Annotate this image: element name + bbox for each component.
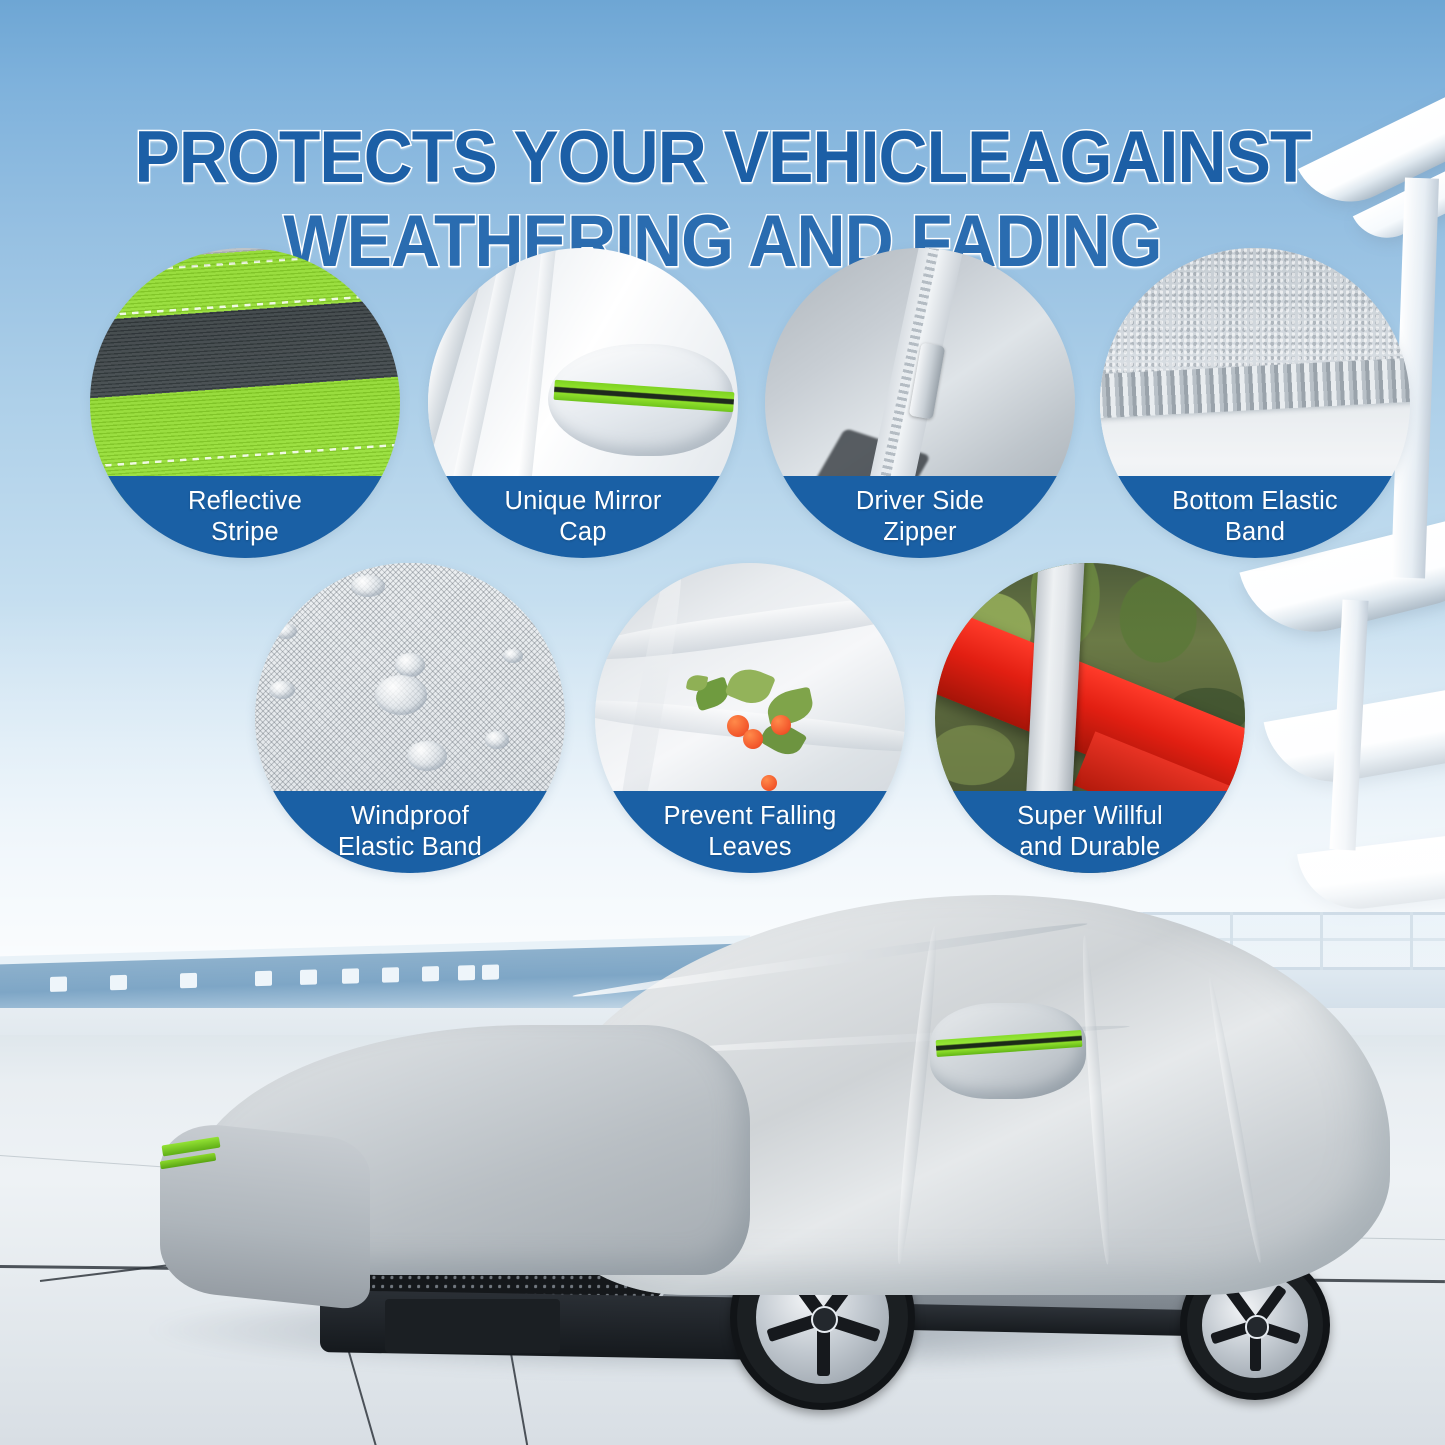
feature-label: Super Willful and Durable xyxy=(1005,801,1175,863)
feature-label: Reflective Stripe xyxy=(176,486,314,548)
feature-label: Prevent Falling Leaves xyxy=(651,801,848,863)
feature-circle-reflective-stripe[interactable]: Reflective Stripe xyxy=(90,248,400,558)
feature-label-banner: Super Willful and Durable xyxy=(935,791,1245,873)
feature-circle-unique-mirror-cap[interactable]: Unique Mirror Cap xyxy=(428,248,738,558)
product-infographic: PROTECTS YOUR VEHICLEAGAINST WEATHERING … xyxy=(0,0,1445,1445)
feature-label: Unique Mirror Cap xyxy=(492,486,673,548)
feature-label: Windproof Elastic Band xyxy=(326,801,494,863)
feature-label-banner: Driver Side Zipper xyxy=(765,476,1075,558)
feature-circle-windproof-elastic-band[interactable]: Windproof Elastic Band xyxy=(255,563,565,873)
feature-circle-super-willful-and-durable[interactable]: Super Willful and Durable xyxy=(935,563,1245,873)
feature-label-banner: Bottom Elastic Band xyxy=(1100,476,1410,558)
feature-circle-driver-side-zipper[interactable]: Driver Side Zipper xyxy=(765,248,1075,558)
feature-circle-bottom-elastic-band[interactable]: Bottom Elastic Band xyxy=(1100,248,1410,558)
feature-label-banner: Windproof Elastic Band xyxy=(255,791,565,873)
feature-label-banner: Prevent Falling Leaves xyxy=(595,791,905,873)
feature-label-banner: Unique Mirror Cap xyxy=(428,476,738,558)
feature-circle-prevent-falling-leaves[interactable]: Prevent Falling Leaves xyxy=(595,563,905,873)
license-plate-recess xyxy=(385,1299,560,1353)
covered-vehicle xyxy=(100,895,1390,1405)
feature-label: Bottom Elastic Band xyxy=(1160,486,1350,548)
feature-label-banner: Reflective Stripe xyxy=(90,476,400,558)
feature-label: Driver Side Zipper xyxy=(844,486,996,548)
headline-line-1: PROTECTS YOUR VEHICLEAGAINST xyxy=(134,117,1310,198)
